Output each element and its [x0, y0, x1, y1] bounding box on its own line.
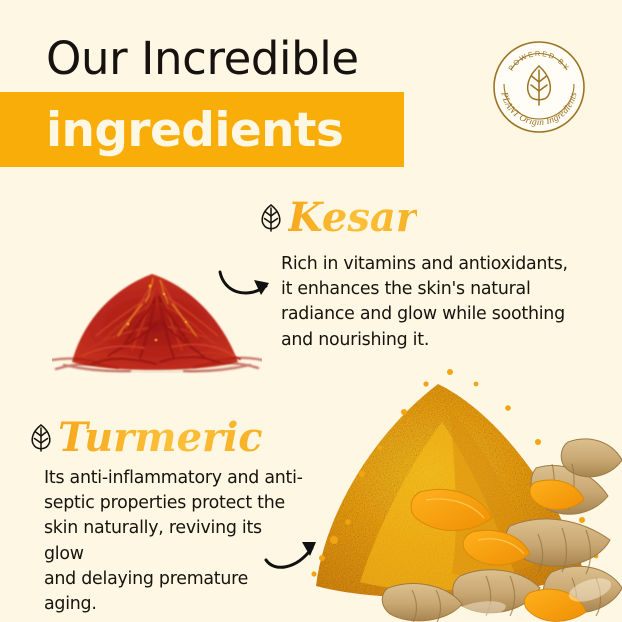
- plant-origin-badge: POWERED BY PLANT Origin Ingredients: [492, 40, 586, 134]
- leaf-icon: [258, 202, 284, 232]
- kesar-title-row: Kesar: [258, 198, 417, 238]
- leaf-icon: [28, 422, 54, 452]
- turmeric-pointer-arrow: [262, 528, 324, 576]
- saffron-threads-photo: [52, 232, 262, 382]
- kesar-pointer-arrow: [216, 258, 278, 306]
- kesar-description: Rich in vitamins and antioxidants, it en…: [281, 252, 591, 353]
- turmeric-title-row: Turmeric: [28, 418, 263, 458]
- heading-line-2: ingredients: [46, 99, 343, 162]
- heading-line-1: Our Incredible: [46, 36, 359, 81]
- saffron-illustration: [52, 232, 262, 382]
- turmeric-illustration: [300, 350, 622, 622]
- turmeric-title: Turmeric: [58, 418, 263, 458]
- badge-graphic: POWERED BY PLANT Origin Ingredients: [492, 40, 586, 134]
- ingredients-poster: Our Incredible ingredients POWERED BY PL…: [0, 0, 622, 622]
- kesar-title: Kesar: [288, 198, 417, 238]
- turmeric-powder-photo: [300, 350, 622, 622]
